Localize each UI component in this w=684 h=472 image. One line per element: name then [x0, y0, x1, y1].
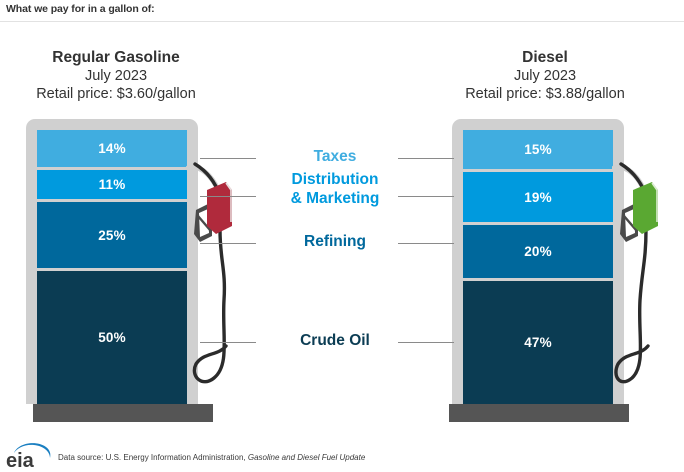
- pump-bar-stack: 14%11%25%50%: [37, 130, 187, 404]
- source-prefix: Data source: U.S. Energy Information Adm…: [58, 453, 248, 462]
- bar-segment-value: 25%: [98, 228, 126, 243]
- leader-line-right-crude-oil: [398, 342, 454, 343]
- nozzle-body: [633, 182, 658, 234]
- leader-line-right-distribution-marketing: [398, 196, 454, 197]
- pump-date: July 2023: [0, 67, 246, 85]
- footer: eia Data source: U.S. Energy Information…: [0, 437, 684, 472]
- bar-segment-value: 11%: [99, 177, 126, 192]
- pump-bar-stack: 15%19%20%47%: [463, 130, 613, 404]
- leader-line-left-crude-oil: [200, 342, 256, 343]
- eia-logo-text: eia: [6, 450, 35, 470]
- legend-label-taxes: Taxes: [259, 147, 411, 166]
- pump-name: Diesel: [415, 48, 675, 67]
- legend-label-line1: Crude Oil: [300, 332, 370, 349]
- bar-segment-value: 47%: [524, 335, 552, 350]
- bar-segment-refining: 25%: [37, 202, 187, 268]
- bar-segment-value: 20%: [524, 244, 552, 259]
- pump-name: Regular Gasoline: [0, 48, 246, 67]
- bar-segment-crude-oil: 47%: [463, 281, 613, 404]
- page-title: What we pay for in a gallon of:: [6, 3, 155, 15]
- pump-title-diesel: Diesel July 2023 Retail price: $3.88/gal…: [415, 48, 675, 103]
- pump-title-regular-gasoline: Regular Gasoline July 2023 Retail price:…: [0, 48, 246, 103]
- pump-date: July 2023: [415, 67, 675, 85]
- pump-base: [449, 404, 629, 422]
- legend-label-refining: Refining: [259, 232, 411, 251]
- bar-segment-refining: 20%: [463, 225, 613, 277]
- legend-label-line2: & Marketing: [259, 189, 411, 208]
- pump-regular-gasoline: 14%11%25%50%: [26, 119, 198, 422]
- bar-segment-value: 15%: [524, 142, 552, 157]
- leader-line-left-refining: [200, 243, 256, 244]
- leader-line-left-taxes: [200, 158, 256, 159]
- leader-line-right-taxes: [398, 158, 454, 159]
- fuel-nozzle-regular-gasoline: [186, 150, 256, 400]
- bar-segment-taxes: 14%: [37, 130, 187, 167]
- bar-segment-distribution-marketing: 11%: [37, 170, 187, 199]
- legend-label-line1: Distribution: [292, 171, 379, 188]
- source-publication: Gasoline and Diesel Fuel Update: [248, 453, 365, 462]
- bar-segment-value: 14%: [98, 141, 126, 156]
- nozzle-body: [207, 182, 232, 234]
- pump-retail-price: Retail price: $3.88/gallon: [415, 85, 675, 103]
- pump-retail-price: Retail price: $3.60/gallon: [0, 85, 246, 103]
- legend-label-crude-oil: Crude Oil: [259, 331, 411, 350]
- legend-label-line1: Refining: [304, 233, 366, 250]
- bar-segment-crude-oil: 50%: [37, 271, 187, 404]
- fuel-nozzle-diesel: [612, 150, 682, 400]
- header-bar: What we pay for in a gallon of:: [0, 0, 684, 22]
- bar-segment-value: 19%: [524, 190, 552, 205]
- bar-segment-taxes: 15%: [463, 130, 613, 169]
- legend-label-line1: Taxes: [314, 148, 357, 165]
- pump-diesel: 15%19%20%47%: [452, 119, 624, 422]
- pump-base: [33, 404, 213, 422]
- eia-logo: eia: [4, 440, 56, 470]
- leader-line-left-distribution-marketing: [200, 196, 256, 197]
- bar-segment-distribution-marketing: 19%: [463, 172, 613, 222]
- bar-segment-value: 50%: [98, 330, 126, 345]
- legend-label-distribution-marketing: Distribution& Marketing: [259, 170, 411, 208]
- source-note: Data source: U.S. Energy Information Adm…: [58, 453, 365, 462]
- leader-line-right-refining: [398, 243, 454, 244]
